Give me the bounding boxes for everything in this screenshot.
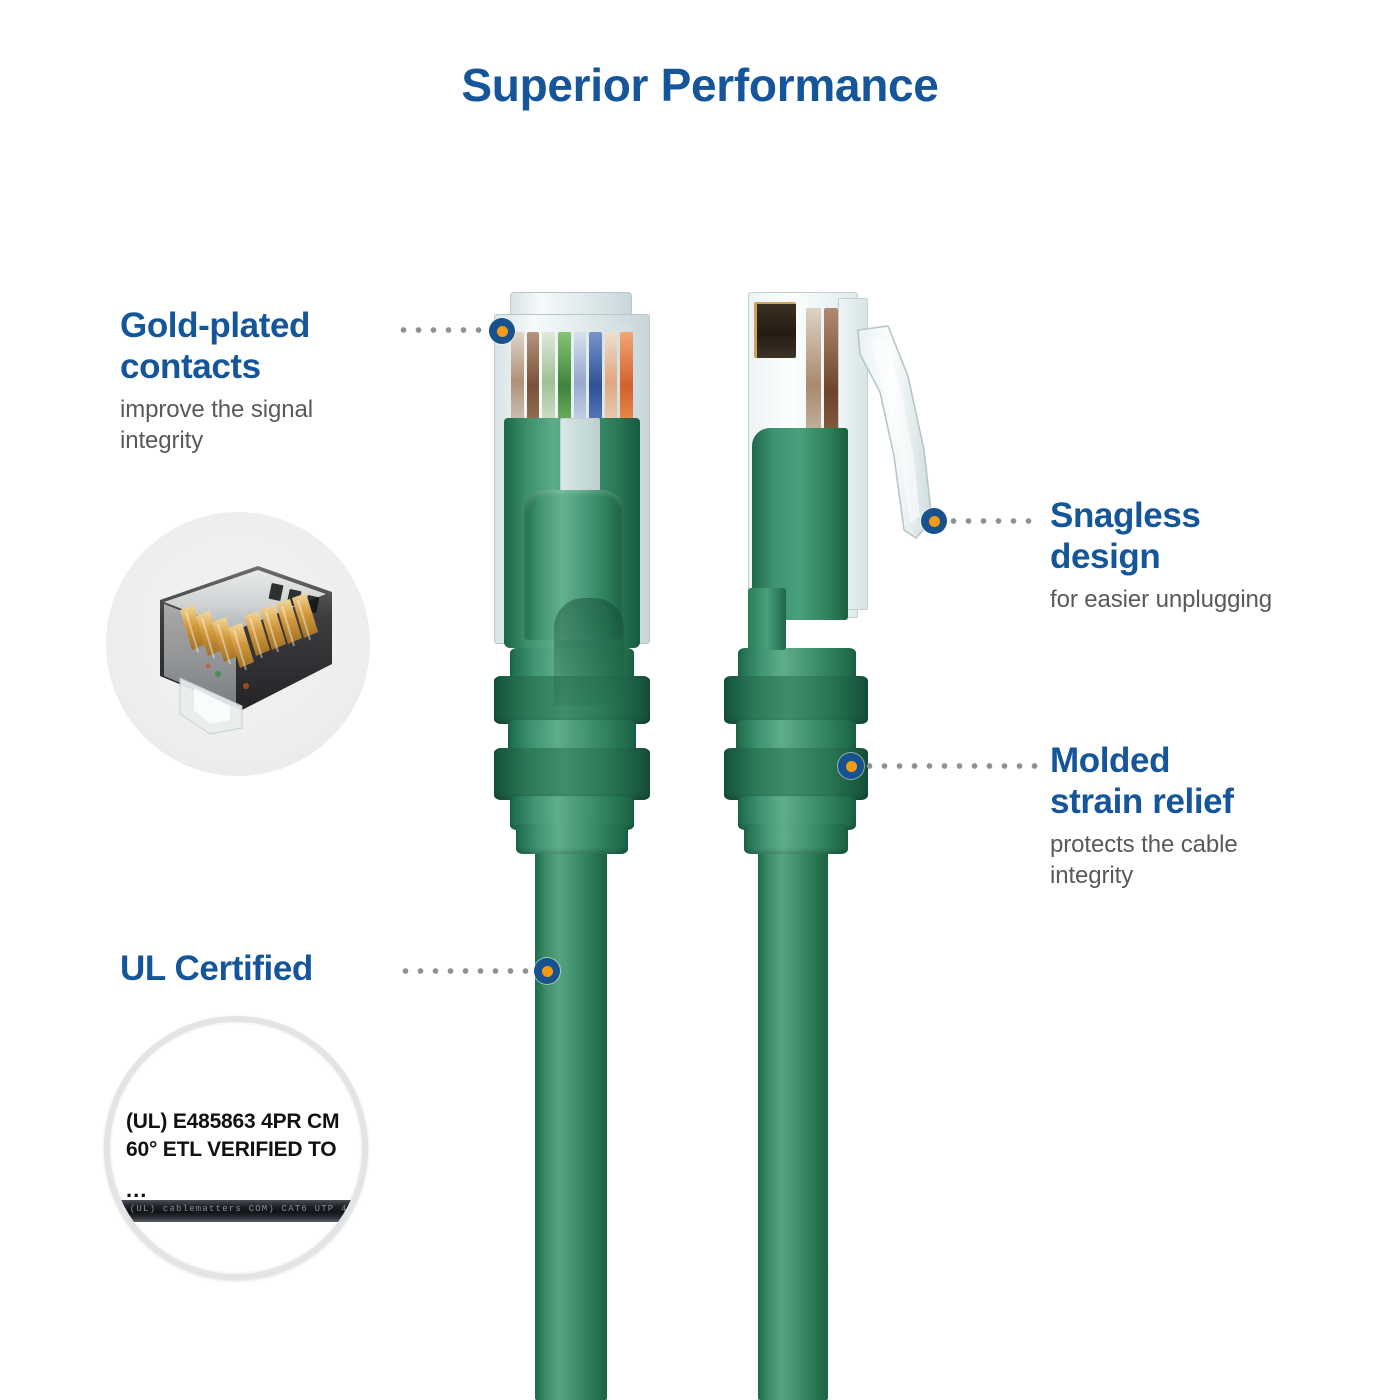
callout-heading: Gold-plated contacts [120, 305, 420, 388]
rj45-connector-front [488, 292, 656, 660]
callout-heading: Molded strain relief [1050, 740, 1390, 823]
wire-orange-white [605, 332, 618, 422]
callout-heading: Snagless design [1050, 495, 1380, 578]
twisted-pair-wires-side [806, 308, 838, 448]
wire-orange [620, 332, 633, 422]
callout-heading-line-1: Molded [1050, 740, 1390, 781]
cable-jacket-left [535, 838, 607, 1400]
infographic-canvas: Superior Performance [0, 0, 1400, 1400]
wire-brown-white [806, 308, 821, 448]
gold-contacts-detail-circle [106, 512, 370, 776]
wire-brown-white [511, 332, 524, 422]
target-dot-snagless-design [921, 508, 947, 534]
callout-heading-line-1: Snagless [1050, 495, 1380, 536]
callout-subtext: for easier unplugging [1050, 584, 1380, 615]
boot-notch [554, 598, 624, 706]
rj45-gold-contacts-photo [150, 560, 340, 736]
callout-subtext-line-1: protects the cable [1050, 829, 1390, 860]
boot-ridge [744, 824, 848, 854]
callout-subtext-line-2: integrity [1050, 860, 1390, 891]
ul-label-detail-circle: (UL) E485863 4PR CM 60° ETL VERIFIED TO … [104, 1016, 368, 1280]
boot-thumb-grip [524, 490, 624, 640]
gold-plated-contact-block [754, 302, 796, 358]
target-dot-ul-certified [534, 958, 560, 984]
twisted-pair-wires [508, 332, 636, 422]
callout-snagless-design: Snagless design for easier unplugging [1050, 495, 1380, 615]
product-illustration: (UL) E485863 4PR CM 60° ETL VERIFIED TO … [0, 0, 1400, 1400]
boot-ridge [494, 748, 650, 800]
target-dot-gold-plated-contacts [489, 318, 515, 344]
callout-heading-line-2: strain relief [1050, 781, 1390, 822]
wire-blue-white [574, 332, 587, 422]
boot-ridge [724, 676, 868, 724]
wire-green [558, 332, 571, 422]
callout-subtext-line-1: for easier unplugging [1050, 584, 1380, 615]
callout-molded-strain-relief: Molded strain relief protects the cable … [1050, 740, 1390, 891]
callout-heading-line-1: Gold-plated [120, 305, 420, 346]
callout-heading-line-2: design [1050, 536, 1380, 577]
cable-jacket-print: (UL) cablematters COM) CAT6 UTP 4P [110, 1204, 368, 1214]
ul-label-line-1: (UL) E485863 4PR CM [126, 1108, 368, 1136]
callout-heading-line-1: UL Certified [120, 948, 420, 989]
callout-subtext: improve the signal integrity [120, 394, 420, 456]
callout-subtext: protects the cable integrity [1050, 829, 1390, 891]
callout-ul-certified: UL Certified [120, 948, 420, 989]
callout-gold-plated-contacts: Gold-plated contacts improve the signal … [120, 305, 420, 456]
callout-subtext-line-2: integrity [120, 425, 420, 456]
wire-green-white [542, 332, 555, 422]
strain-relief-boot-right [724, 648, 868, 848]
wire-blue [589, 332, 602, 422]
cable-jacket-right [758, 838, 828, 1400]
ul-label-text: (UL) E485863 4PR CM 60° ETL VERIFIED TO [126, 1108, 368, 1163]
callout-heading-line-2: contacts [120, 346, 420, 387]
rj45-connector-side [734, 288, 950, 660]
target-dot-molded-strain-relief [838, 753, 864, 779]
ul-label-line-2: 60° ETL VERIFIED TO [126, 1136, 368, 1164]
callout-subtext-line-1: improve the signal [120, 394, 420, 425]
boot-ridge [516, 824, 628, 854]
leader-line-snagless-design [946, 518, 1038, 524]
wire-brown [527, 332, 540, 422]
leader-line-molded-strain-relief [862, 763, 1038, 769]
wire-brown [824, 308, 839, 448]
callout-heading: UL Certified [120, 948, 420, 989]
green-snagless-boot-front [504, 418, 640, 648]
green-boot-tail [748, 588, 786, 650]
